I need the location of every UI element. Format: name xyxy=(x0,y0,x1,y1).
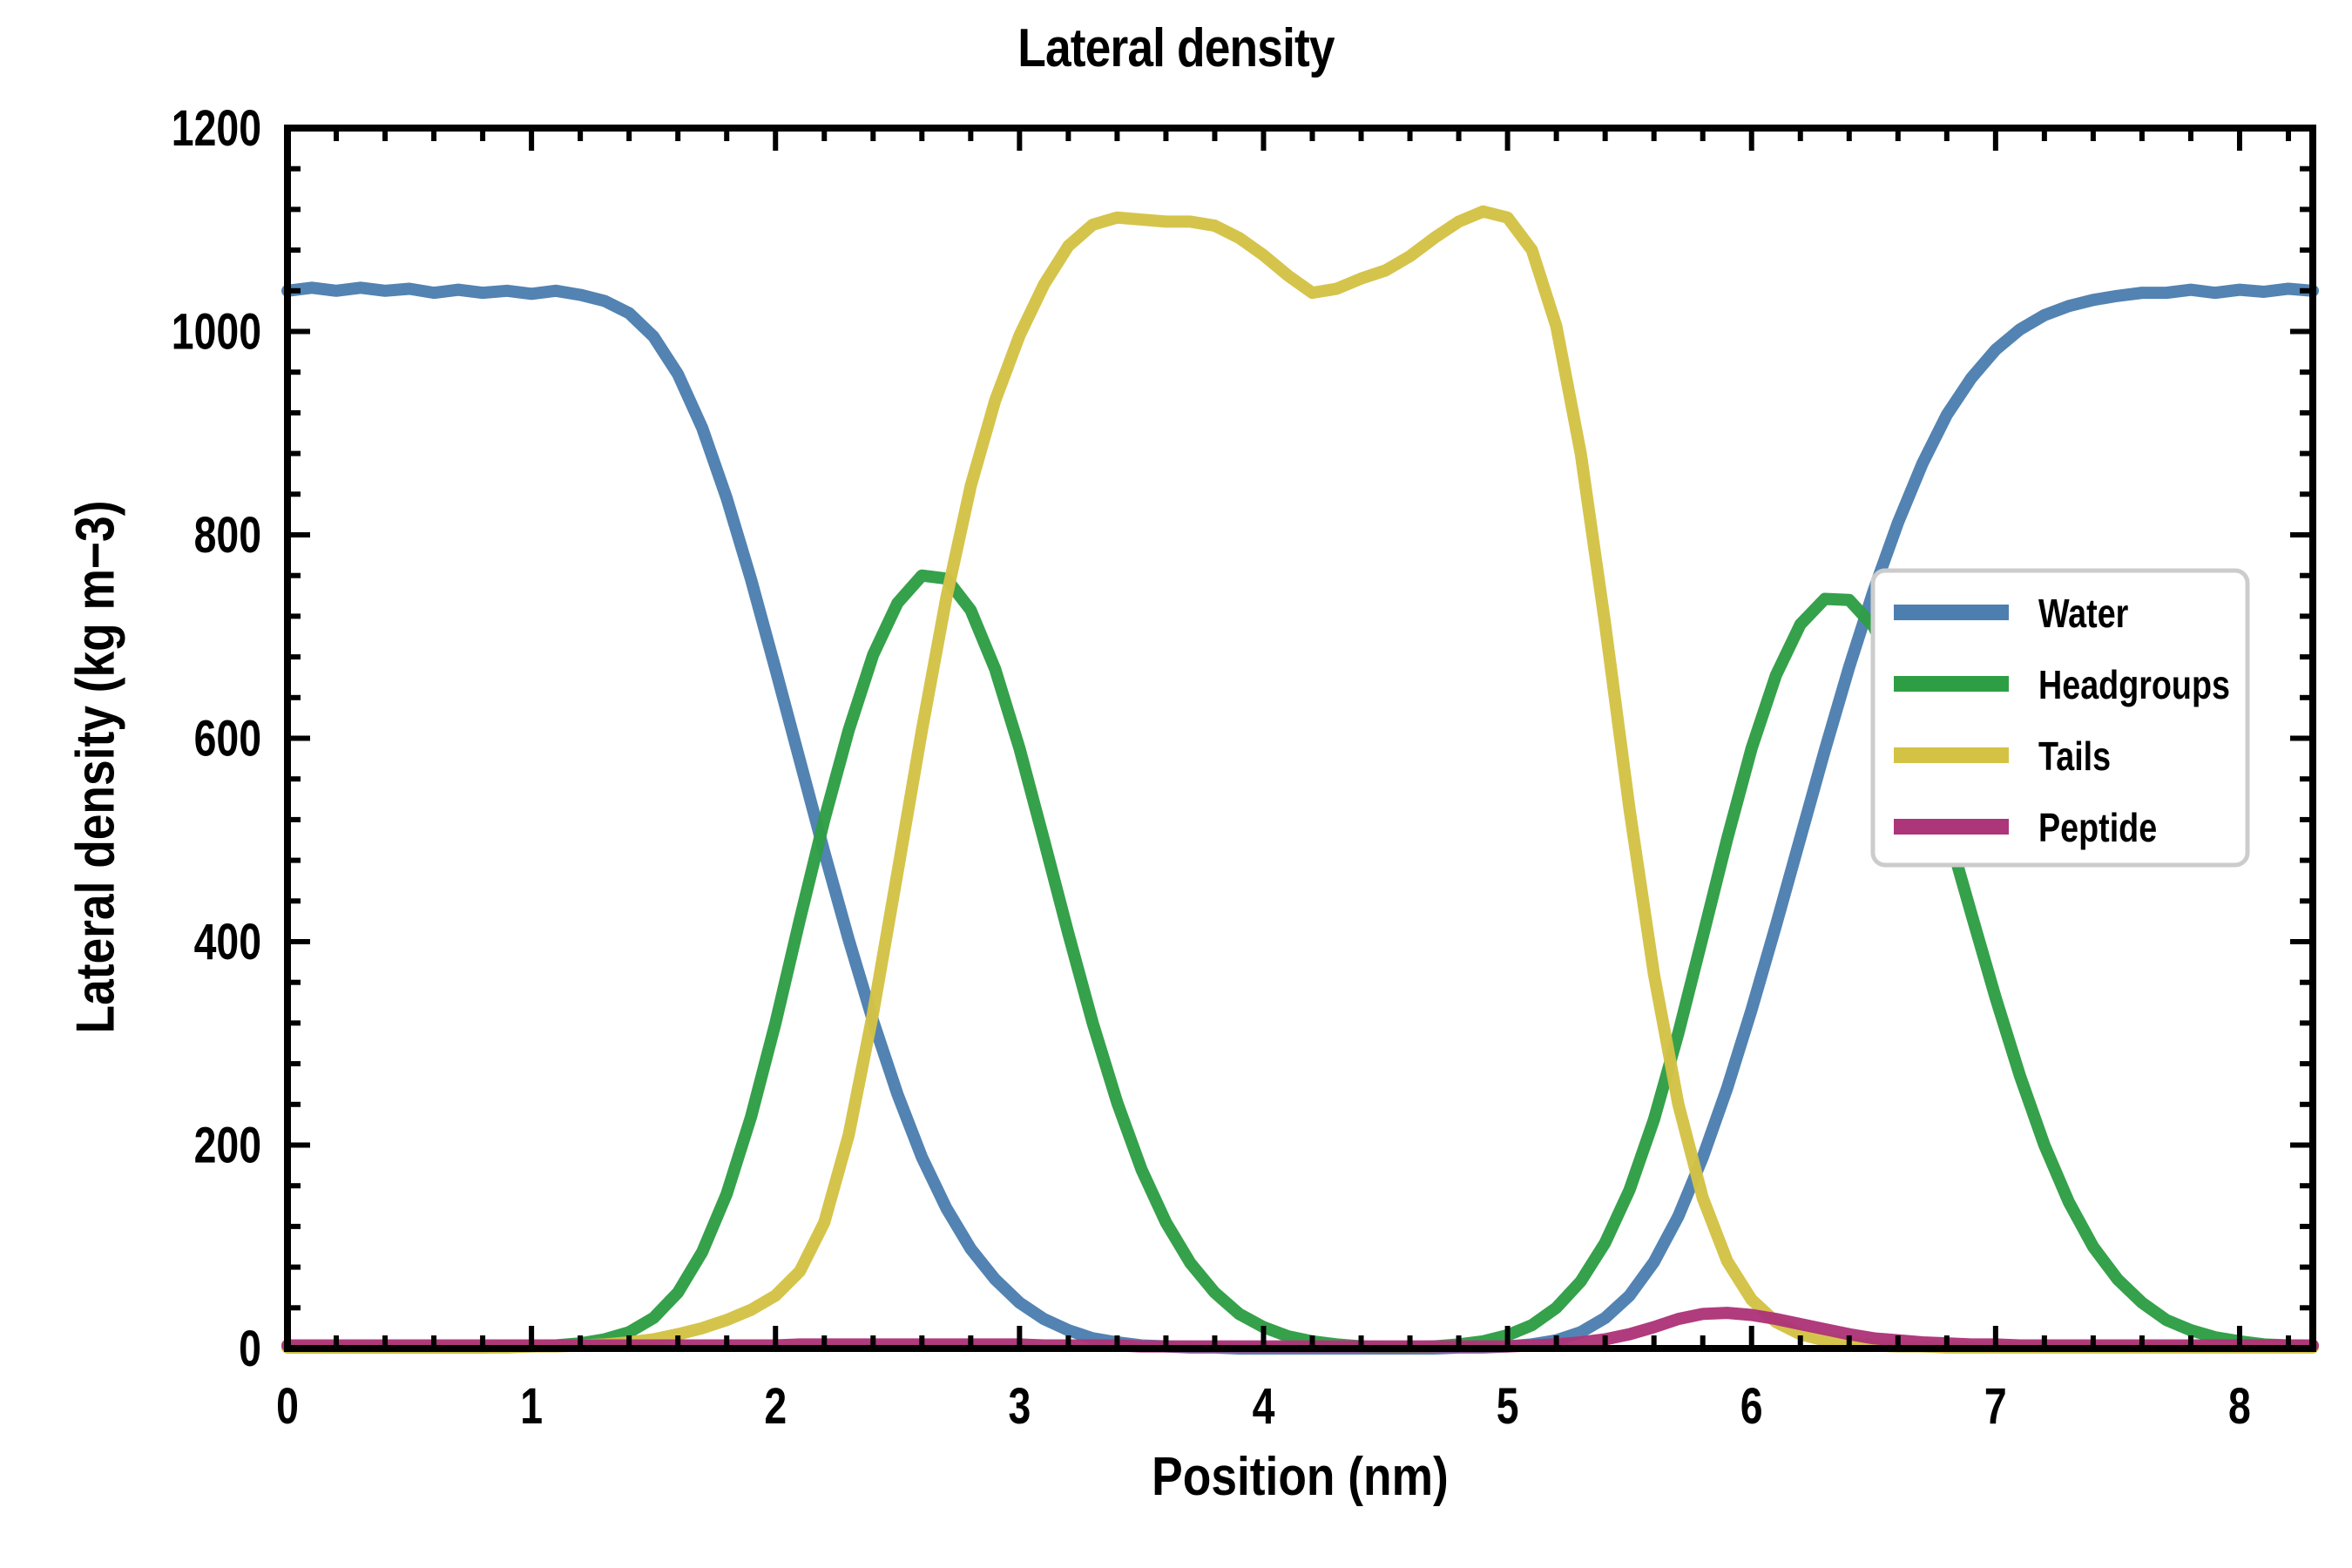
legend-label-water: Water xyxy=(2038,591,2128,635)
y-tick-label: 800 xyxy=(194,507,261,564)
legend: WaterHeadgroupsTailsPeptide xyxy=(1873,571,2247,865)
y-tick-label: 400 xyxy=(194,914,261,970)
figure-canvas: Lateral density Lateral density (kg m−3)… xyxy=(0,0,2352,1568)
y-tick-label: 200 xyxy=(194,1118,261,1174)
y-tick-label: 1200 xyxy=(172,100,261,157)
x-tick-label: 2 xyxy=(764,1378,787,1435)
y-tick-label: 600 xyxy=(194,711,261,767)
legend-label-peptide: Peptide xyxy=(2038,805,2157,849)
x-tick-label: 4 xyxy=(1253,1378,1275,1435)
x-tick-label: 5 xyxy=(1497,1378,1519,1435)
x-tick-label: 3 xyxy=(1008,1378,1031,1435)
y-tick-label: 0 xyxy=(239,1321,261,1377)
y-tick-label: 1000 xyxy=(172,304,261,361)
series-line-peptide xyxy=(287,1313,2313,1347)
x-tick-label: 0 xyxy=(276,1378,299,1435)
x-tick-label: 6 xyxy=(1740,1378,1763,1435)
plot-area: 012345678020040060080010001200WaterHeadg… xyxy=(0,0,2352,1568)
legend-label-tails: Tails xyxy=(2038,733,2111,778)
x-tick-label: 8 xyxy=(2228,1378,2251,1435)
x-tick-label: 1 xyxy=(520,1378,543,1435)
x-tick-label: 7 xyxy=(1984,1378,2007,1435)
legend-label-headgroups: Headgroups xyxy=(2038,662,2230,706)
